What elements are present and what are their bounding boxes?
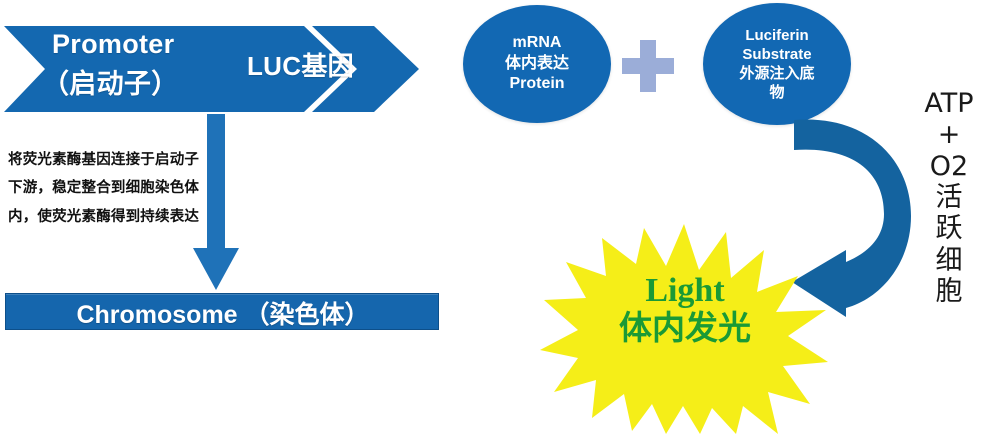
bubble-mrna: mRNA 体内表达 Protein [463,5,611,123]
bubble-mrna-line-3: Protein [509,74,564,94]
chromosome-label: Chromosome （染色体） [6,294,440,331]
atp-line-6: 细 [916,245,982,276]
atp-annotation: ATP + O2 活 跃 细 胞 [916,88,982,307]
bubble-mrna-line-1: mRNA [513,33,562,53]
light-starburst-shape [540,222,828,434]
bubble-luciferin-line-4: 物 [769,83,784,102]
atp-line-2: + [916,119,982,150]
atp-line-1: ATP [916,88,982,119]
atp-line-5: 跃 [916,213,982,244]
description-text: 将荧光素酶基因连接于启动子下游，稳定整合到细胞染色体内，使荧光素酶得到持续表达 [8,146,208,231]
bubble-luciferin: Luciferin Substrate 外源注入底 物 [703,3,851,125]
bubble-mrna-line-2: 体内表达 [505,54,569,74]
bubble-luciferin-line-3: 外源注入底 [739,64,814,83]
chromosome-bar: Chromosome （染色体） [5,293,439,330]
atp-line-3: O2 [916,151,982,182]
promoter-label-cn: （启动子） [42,62,179,101]
promoter-label-en: Promoter [52,29,174,60]
luc-gene-label: LUC基因 [247,46,354,83]
bubble-luciferin-line-1: Luciferin [745,26,808,45]
atp-line-7: 胞 [916,276,982,307]
plus-icon [622,40,674,92]
atp-line-4: 活 [916,182,982,213]
diagram-canvas: Promoter （启动子） LUC基因 将荧光素酶基因连接于启动子下游，稳定整… [0,0,1000,430]
bubble-luciferin-line-2: Substrate [742,45,811,64]
